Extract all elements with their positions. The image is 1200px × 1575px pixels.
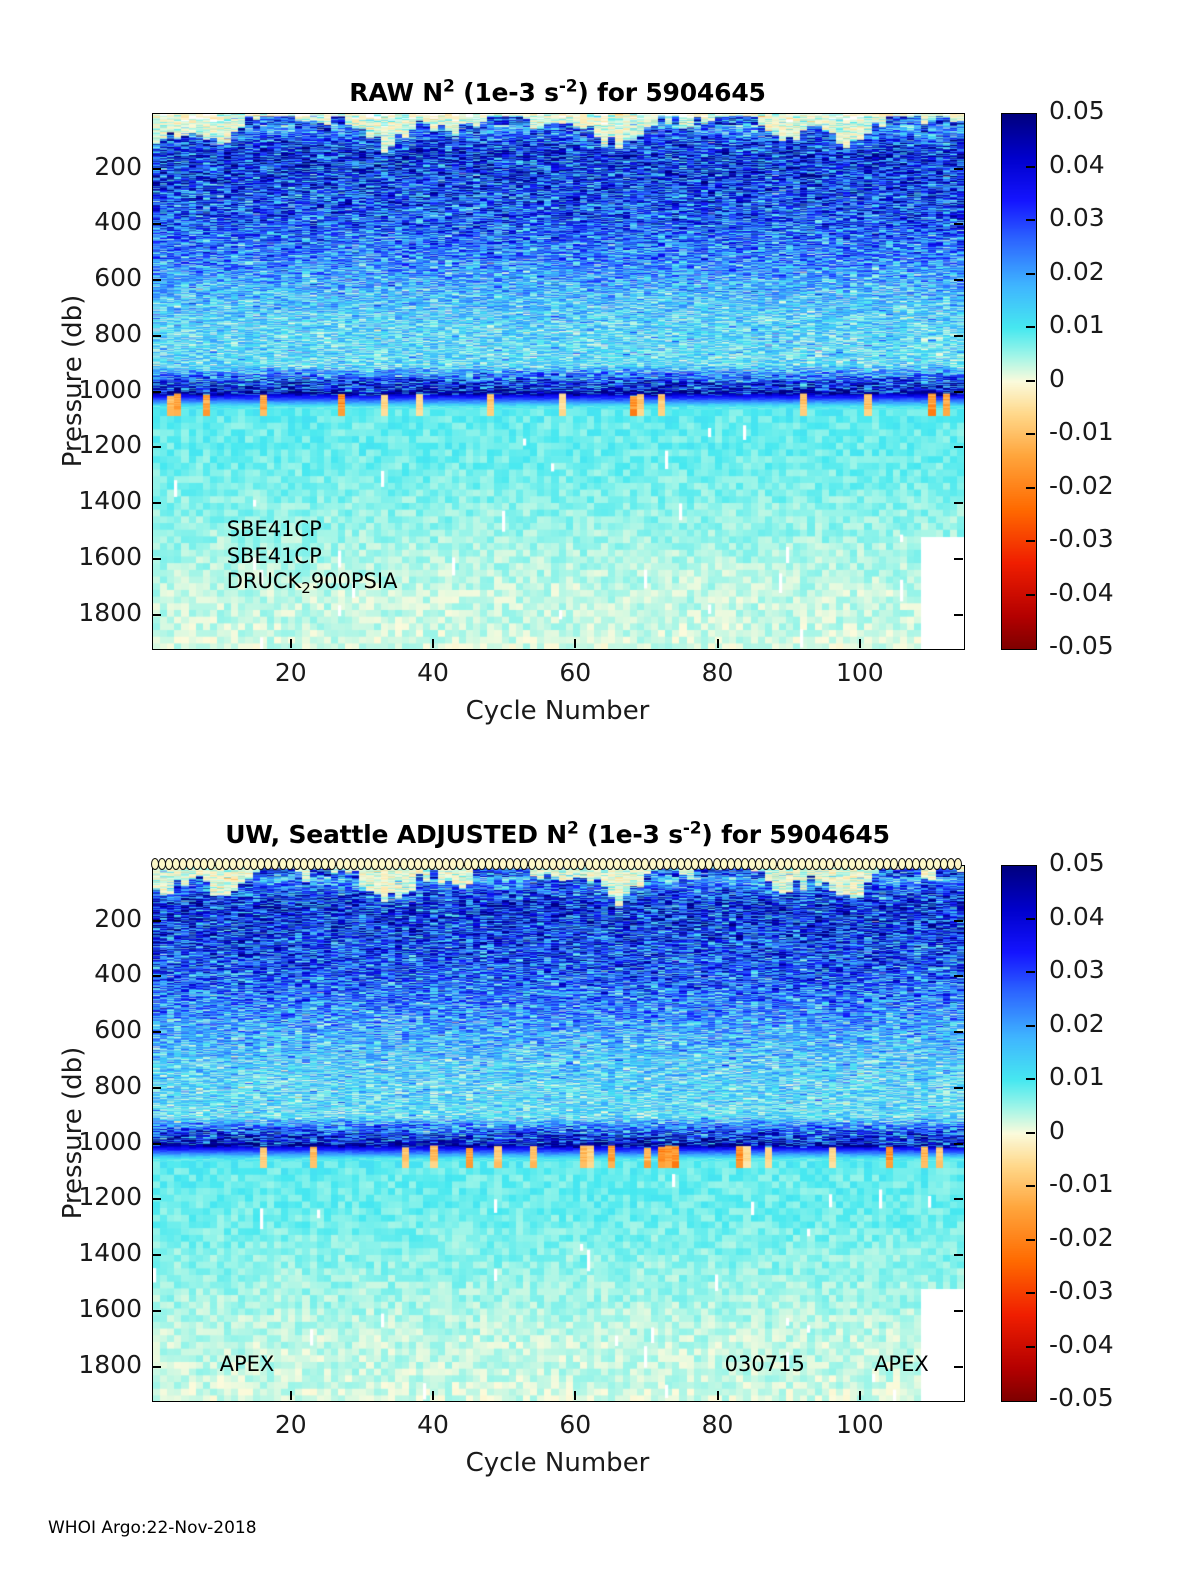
annotation-raw-1: SBE41CP xyxy=(227,543,322,570)
colorbar-tick-4: 0.01 xyxy=(1049,1062,1105,1091)
y-tick-mark-right xyxy=(954,502,963,504)
y-tick-mark xyxy=(152,1310,161,1312)
x-tick-100: 100 xyxy=(810,1410,910,1439)
colorbar-tick-6: -0.01 xyxy=(1049,417,1114,446)
figure-footer: WHOI Argo:22-Nov-2018 xyxy=(48,1518,257,1538)
plot-area-adjusted xyxy=(152,865,965,1402)
x-tick-mark xyxy=(859,639,861,648)
x-axis-label: Cycle Number xyxy=(152,1448,963,1478)
colorbar-tick-8: -0.03 xyxy=(1049,1276,1114,1305)
y-axis-label: Pressure (db) xyxy=(58,286,88,476)
colorbar-tick-3: 0.02 xyxy=(1049,257,1105,286)
y-tick-mark xyxy=(152,558,161,560)
colorbar-tick-1: 0.04 xyxy=(1049,150,1105,179)
y-tick-mark-right xyxy=(954,1031,963,1033)
x-tick-60: 60 xyxy=(525,1410,625,1439)
annotation-bottom-adjusted-2: APEX xyxy=(874,1351,929,1378)
colorbar-tick-mark xyxy=(1026,380,1035,382)
x-tick-mark xyxy=(290,639,292,648)
y-tick-mark-right xyxy=(954,446,963,448)
y-tick-400: 400 xyxy=(24,207,142,236)
y-tick-mark-right xyxy=(954,1143,963,1145)
colorbar-tick-mark xyxy=(1026,433,1035,435)
x-tick-20: 20 xyxy=(241,658,341,687)
colorbar-gradient xyxy=(1002,866,1036,1401)
cycle-marker xyxy=(954,858,962,870)
colorbar-tick-5: 0 xyxy=(1049,1116,1065,1145)
y-tick-1400: 1400 xyxy=(24,486,142,515)
colorbar-raw xyxy=(1001,113,1037,650)
colorbar-tick-6: -0.01 xyxy=(1049,1169,1114,1198)
y-tick-mark xyxy=(152,1254,161,1256)
colorbar-tick-10: -0.05 xyxy=(1049,1383,1114,1412)
heatmap-canvas-adjusted xyxy=(153,866,964,1401)
colorbar-tick-7: -0.02 xyxy=(1049,471,1114,500)
x-tick-40: 40 xyxy=(383,1410,483,1439)
y-tick-mark xyxy=(152,920,161,922)
y-tick-mark xyxy=(152,1143,161,1145)
colorbar-tick-1: 0.04 xyxy=(1049,902,1105,931)
x-tick-mark xyxy=(574,1391,576,1400)
colorbar-tick-mark xyxy=(1026,1292,1035,1294)
colorbar-tick-mark xyxy=(1026,594,1035,596)
colorbar-tick-10: -0.05 xyxy=(1049,631,1114,660)
colorbar-tick-mark xyxy=(1026,326,1035,328)
colorbar-tick-4: 0.01 xyxy=(1049,310,1105,339)
y-tick-mark xyxy=(152,1087,161,1089)
x-tick-mark xyxy=(290,1391,292,1400)
plot-title-adjusted: UW, Seattle ADJUSTED N2 (1e-3 s-2) for 5… xyxy=(0,820,1200,849)
y-tick-mark-right xyxy=(954,391,963,393)
y-tick-mark xyxy=(152,279,161,281)
colorbar-tick-5: 0 xyxy=(1049,364,1065,393)
x-tick-80: 80 xyxy=(668,658,768,687)
colorbar-tick-mark xyxy=(1026,273,1035,275)
y-tick-mark xyxy=(152,1198,161,1200)
colorbar-tick-mark xyxy=(1026,1025,1035,1027)
x-tick-mark xyxy=(432,1391,434,1400)
y-tick-mark xyxy=(152,502,161,504)
y-tick-1800: 1800 xyxy=(24,598,142,627)
x-tick-60: 60 xyxy=(525,658,625,687)
y-tick-mark-right xyxy=(954,279,963,281)
y-axis-label: Pressure (db) xyxy=(58,1038,88,1228)
colorbar-adjusted xyxy=(1001,865,1037,1402)
colorbar-tick-mark xyxy=(1026,1346,1035,1348)
y-tick-mark-right xyxy=(954,1198,963,1200)
cycle-marker-row xyxy=(152,856,963,874)
x-tick-mark xyxy=(859,1391,861,1400)
y-tick-mark-right xyxy=(954,558,963,560)
colorbar-tick-mark xyxy=(1026,1185,1035,1187)
colorbar-tick-3: 0.02 xyxy=(1049,1009,1105,1038)
annotation-bottom-adjusted-1: 030715 xyxy=(725,1351,805,1378)
y-tick-mark xyxy=(152,1031,161,1033)
x-tick-20: 20 xyxy=(241,1410,341,1439)
colorbar-tick-2: 0.03 xyxy=(1049,203,1105,232)
y-tick-400: 400 xyxy=(24,959,142,988)
y-tick-mark-right xyxy=(954,920,963,922)
annotation-raw-0: SBE41CP xyxy=(227,516,322,543)
colorbar-tick-2: 0.03 xyxy=(1049,955,1105,984)
y-tick-mark-right xyxy=(954,1310,963,1312)
y-tick-200: 200 xyxy=(24,904,142,933)
colorbar-tick-9: -0.04 xyxy=(1049,1330,1114,1359)
y-tick-mark xyxy=(152,446,161,448)
y-tick-mark xyxy=(152,335,161,337)
annotation-bottom-adjusted-0: APEX xyxy=(220,1351,275,1378)
y-tick-mark-right xyxy=(954,614,963,616)
colorbar-tick-8: -0.03 xyxy=(1049,524,1114,553)
colorbar-tick-mark xyxy=(1026,1239,1035,1241)
y-tick-200: 200 xyxy=(24,152,142,181)
colorbar-tick-mark xyxy=(1026,918,1035,920)
colorbar-tick-mark xyxy=(1026,971,1035,973)
y-tick-mark-right xyxy=(954,1254,963,1256)
colorbar-tick-mark xyxy=(1026,487,1035,489)
x-tick-40: 40 xyxy=(383,658,483,687)
colorbar-tick-9: -0.04 xyxy=(1049,578,1114,607)
y-tick-mark xyxy=(152,1366,161,1368)
y-tick-mark-right xyxy=(954,168,963,170)
y-tick-mark-right xyxy=(954,1087,963,1089)
y-tick-mark-right xyxy=(954,975,963,977)
x-tick-80: 80 xyxy=(668,1410,768,1439)
x-axis-label: Cycle Number xyxy=(152,696,963,726)
x-tick-mark xyxy=(717,1391,719,1400)
y-tick-mark-right xyxy=(954,335,963,337)
y-tick-mark xyxy=(152,391,161,393)
x-tick-mark xyxy=(574,639,576,648)
y-tick-1800: 1800 xyxy=(24,1350,142,1379)
y-tick-1600: 1600 xyxy=(24,542,142,571)
colorbar-tick-7: -0.02 xyxy=(1049,1223,1114,1252)
x-tick-mark xyxy=(717,639,719,648)
plot-title-raw: RAW N2 (1e-3 s-2) for 5904645 xyxy=(0,78,1200,107)
colorbar-tick-mark xyxy=(1026,1132,1035,1134)
x-tick-mark xyxy=(432,639,434,648)
y-tick-mark xyxy=(152,223,161,225)
colorbar-tick-mark xyxy=(1026,166,1035,168)
colorbar-tick-mark xyxy=(1026,219,1035,221)
y-tick-mark-right xyxy=(954,1366,963,1368)
colorbar-gradient xyxy=(1002,114,1036,649)
annotation-raw-2: DRUCK2900PSIA xyxy=(227,568,398,595)
y-tick-1600: 1600 xyxy=(24,1294,142,1323)
y-tick-mark xyxy=(152,975,161,977)
colorbar-tick-0: 0.05 xyxy=(1049,848,1105,877)
colorbar-tick-mark xyxy=(1026,1078,1035,1080)
y-tick-1400: 1400 xyxy=(24,1238,142,1267)
colorbar-tick-mark xyxy=(1026,540,1035,542)
y-tick-mark-right xyxy=(954,223,963,225)
y-tick-mark xyxy=(152,168,161,170)
x-tick-100: 100 xyxy=(810,658,910,687)
colorbar-tick-0: 0.05 xyxy=(1049,96,1105,125)
y-tick-mark xyxy=(152,614,161,616)
